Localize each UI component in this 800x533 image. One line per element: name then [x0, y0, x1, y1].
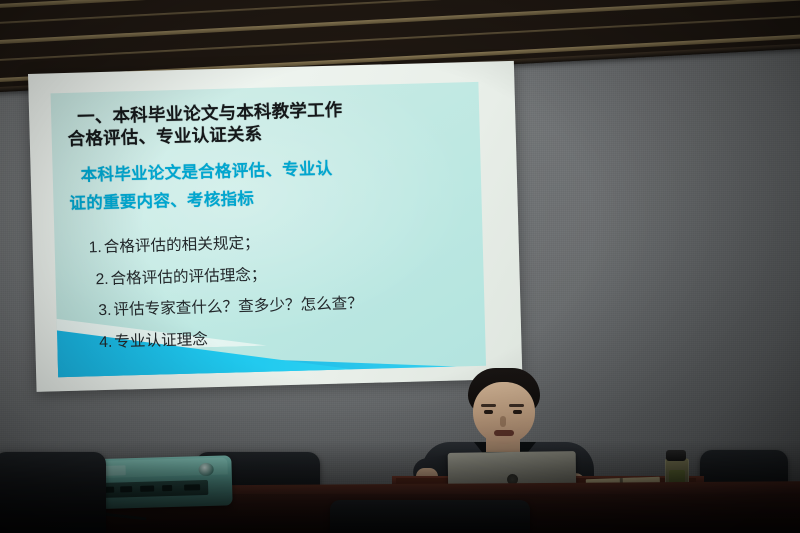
projector-lens-icon — [198, 463, 213, 476]
projection-screen: 一、本科毕业论文与本科教学工作 合格评估、专业认证关系 本科毕业论文是合格评估、… — [28, 61, 522, 392]
tea-bottle-cap — [666, 450, 686, 461]
list-item-text: 专业认证理念 — [114, 331, 208, 351]
slide-title: 一、本科毕业论文与本科教学工作 合格评估、专业认证关系 — [77, 96, 470, 150]
projector-port — [140, 485, 154, 491]
list-item-number: 4. — [99, 334, 112, 351]
slide-subtitle-line2: 证的重要内容、考核指标 — [69, 179, 478, 218]
presenter-eye — [513, 410, 522, 414]
projector-port — [120, 486, 132, 492]
list-item-text: 合格评估的相关规定； — [104, 235, 260, 256]
chair — [0, 452, 106, 533]
lecture-hall-photo: 一、本科毕业论文与本科教学工作 合格评估、专业认证关系 本科毕业论文是合格评估、… — [0, 0, 800, 533]
projector-port — [184, 484, 200, 490]
chair — [330, 500, 530, 533]
list-item: 2.合格评估的评估理念； — [95, 261, 485, 287]
list-item: 4.专业认证理念 — [99, 324, 486, 350]
presenter-eyebrow — [509, 404, 524, 407]
presenter-nose — [500, 416, 506, 427]
presenter-eye — [484, 410, 493, 414]
list-item: 1.合格评估的相关规定； — [89, 230, 485, 256]
list-item-number: 1. — [88, 239, 101, 256]
presentation-slide: 一、本科毕业论文与本科教学工作 合格评估、专业认证关系 本科毕业论文是合格评估、… — [51, 82, 487, 377]
list-item-number: 3. — [98, 302, 111, 319]
slide-subtitle-line1: 本科毕业论文是合格评估、专业认 — [81, 160, 333, 185]
slide-content: 一、本科毕业论文与本科教学工作 合格评估、专业认证关系 本科毕业论文是合格评估、… — [51, 82, 487, 377]
presenter-eyebrow — [481, 404, 496, 407]
list-item-text: 合格评估的评估理念； — [110, 266, 266, 287]
list-item-number: 2. — [95, 270, 108, 287]
list-item: 3.评估专家查什么？查多少？怎么查？ — [98, 293, 486, 319]
slide-list: 1.合格评估的相关规定； 2.合格评估的评估理念； 3.评估专家查什么？查多少？… — [89, 230, 487, 367]
slide-subtitle: 本科毕业论文是合格评估、专业认 证的重要内容、考核指标 — [80, 152, 477, 218]
projector-port — [162, 485, 172, 491]
presenter-mouth — [494, 430, 514, 436]
list-item-text: 评估专家查什么？查多少？怎么查？ — [113, 295, 363, 319]
presenter-face — [473, 382, 535, 444]
